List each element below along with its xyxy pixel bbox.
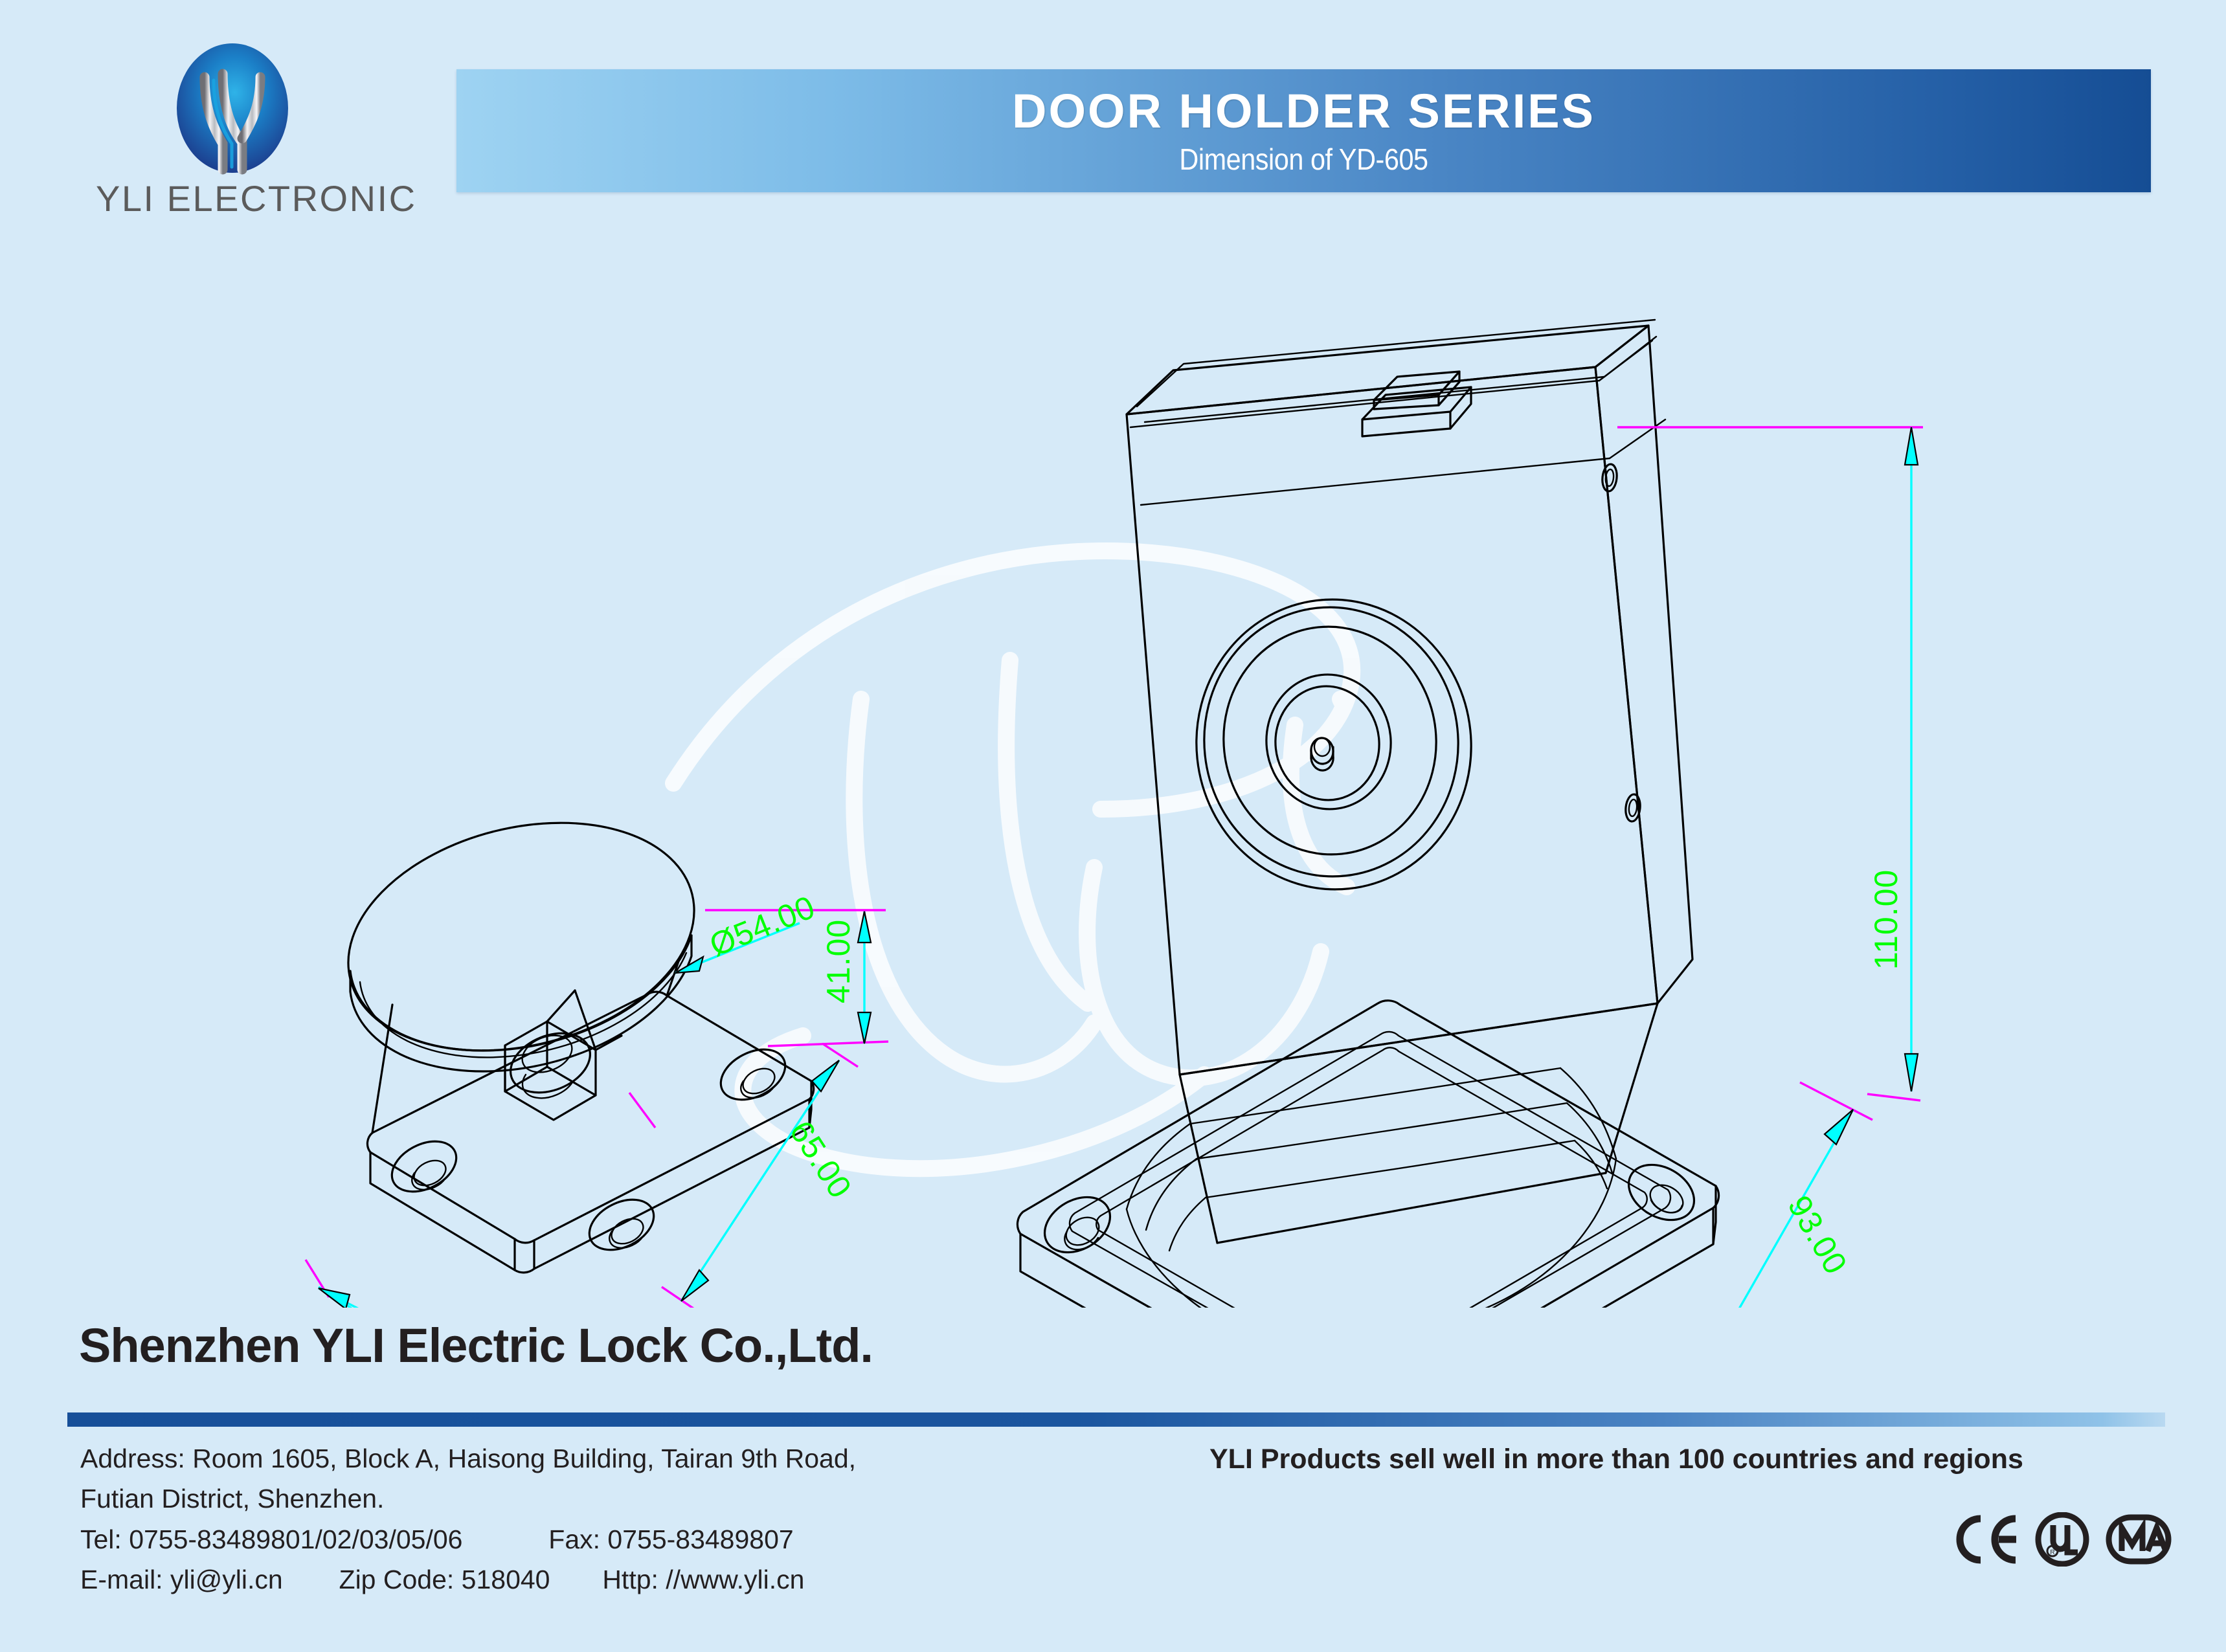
email[interactable]: E-mail: yli@yli.cn (80, 1565, 283, 1594)
footer-divider (67, 1412, 2165, 1427)
address-line-1: Address: Room 1605, Block A, Haisong Bui… (80, 1438, 1116, 1479)
svg-text:93.00: 93.00 (1781, 1190, 1854, 1281)
fax: Fax: 0755-83489807 (548, 1524, 793, 1554)
page-title: DOOR HOLDER SERIES (456, 84, 2151, 139)
telephone: Tel: 0755-83489801/02/03/05/06 (80, 1524, 462, 1554)
brand-logo-text: YLI ELECTRONIC (96, 177, 368, 219)
yli-y-globe-logo-icon (175, 40, 290, 179)
sales-tagline: YLI Products sell well in more than 100 … (1209, 1444, 2161, 1475)
ma-mark-icon (2105, 1512, 2172, 1567)
right-view-drawing: 110.00 93.00 118.00 (982, 320, 1923, 1308)
svg-text:65.00: 65.00 (783, 1114, 859, 1205)
ul-mark-icon: R (2035, 1512, 2089, 1567)
left-view-drawing: Ø54.00 41.00 65.00 (306, 788, 888, 1308)
zip-code: Zip Code: 518040 (339, 1565, 550, 1594)
product-datasheet-page: YLI ELECTRONIC DOOR HOLDER SERIES Dimens… (0, 0, 2226, 1652)
svg-text:Ø54.00: Ø54.00 (704, 889, 820, 964)
certification-marks: R (1933, 1501, 2172, 1578)
contact-info-block: Address: Room 1605, Block A, Haisong Bui… (80, 1438, 1116, 1600)
website[interactable]: Http: //www.yli.cn (602, 1565, 804, 1594)
svg-text:41.00: 41.00 (820, 919, 857, 1003)
page-subtitle: Dimension of YD-605 (541, 142, 2066, 177)
title-banner: DOOR HOLDER SERIES Dimension of YD-605 (456, 69, 2151, 192)
technical-drawing-area: .ln { fill:none; stroke:#000000; stroke-… (0, 233, 2226, 1308)
company-name: Shenzhen YLI Electric Lock Co.,Ltd. (79, 1318, 873, 1373)
svg-text:R: R (2050, 1549, 2054, 1556)
brand-logo: YLI ELECTRONIC (96, 40, 368, 228)
ce-mark-icon (1952, 1512, 2019, 1567)
svg-text:110.00: 110.00 (1868, 869, 1904, 970)
address-line-2: Futian District, Shenzhen. (80, 1479, 1116, 1519)
